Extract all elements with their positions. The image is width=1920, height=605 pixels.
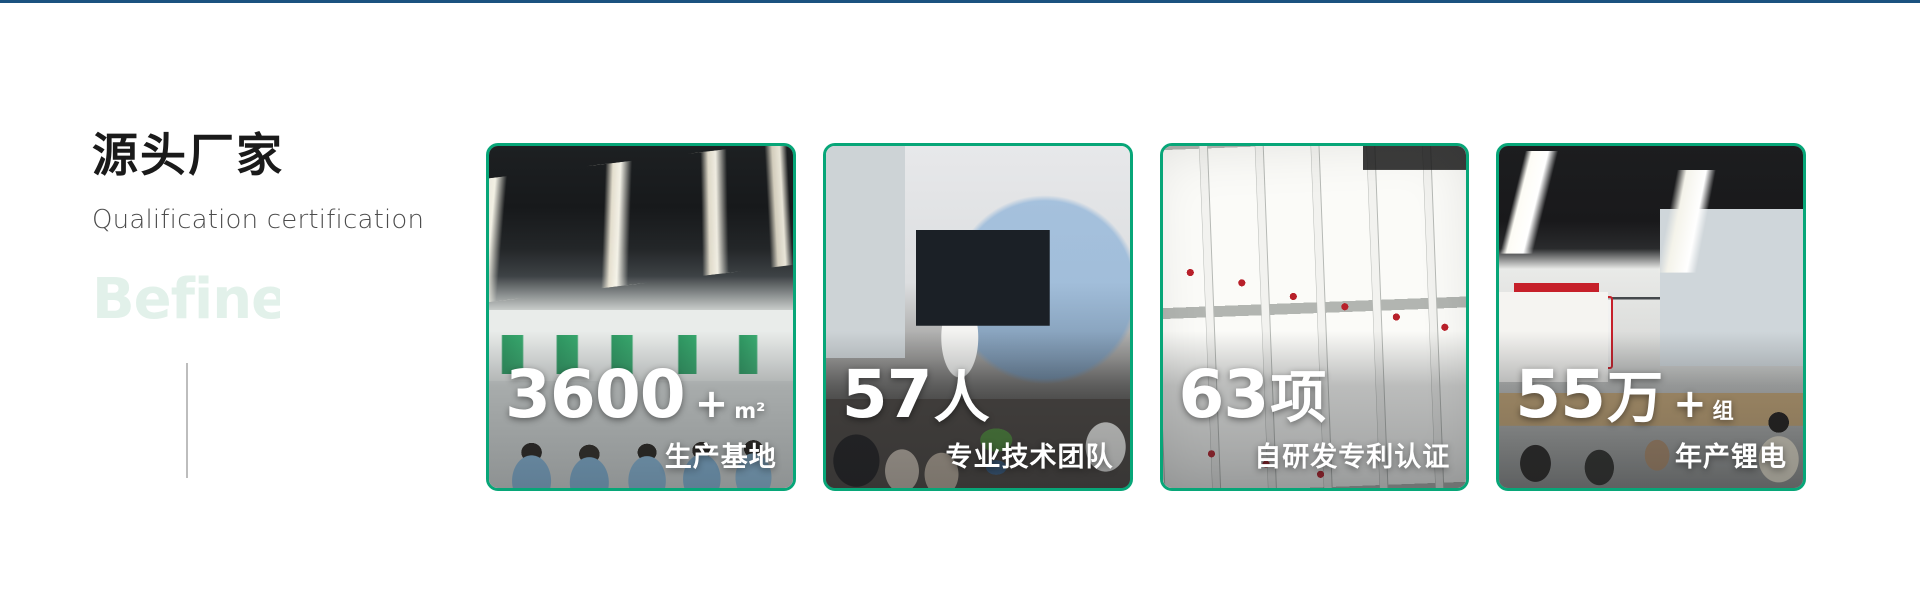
stat-suffix: 组 [1713, 401, 1734, 428]
page-title: 源头厂家 [92, 131, 492, 179]
stat-label: 专业技术团队 [842, 435, 1114, 474]
brand-watermark: Befine [92, 271, 280, 329]
intro-block: 源头厂家 Qualification certification [92, 131, 492, 235]
stat-plus-sign: + [1673, 384, 1707, 424]
stat-overlay: 57 人 专业技术团队 [826, 362, 1130, 474]
stat-unit: 人 [934, 371, 990, 427]
stat-card[interactable]: 63 项 自研发专利认证 [1160, 143, 1470, 491]
stat-overlay: 63 项 自研发专利认证 [1163, 362, 1467, 474]
stat-card-list: 3600 + m² 生产基地 57 人 专业技术团队 [486, 143, 1806, 491]
brand-watermark-text: Befine [92, 271, 280, 329]
page-subtitle: Qualification certification [92, 205, 492, 235]
stat-overlay: 3600 + m² 生产基地 [489, 362, 793, 474]
stat-label: 生产基地 [505, 435, 777, 474]
stat-label: 年产锂电 [1515, 435, 1787, 474]
stat-value: 3600 [505, 362, 685, 428]
stat-unit: 项 [1270, 371, 1326, 427]
stat-value: 63 [1179, 362, 1269, 428]
stat-overlay: 55 万 + 组 年产锂电 [1499, 362, 1803, 474]
vertical-divider [186, 363, 188, 478]
stat-card[interactable]: 57 人 专业技术团队 [823, 143, 1133, 491]
stat-plus-sign: + [695, 384, 729, 424]
stat-card[interactable]: 3600 + m² 生产基地 [486, 143, 796, 491]
qualification-section: 源头厂家 Qualification certification Befine … [0, 3, 1920, 605]
stat-card[interactable]: 55 万 + 组 年产锂电 [1496, 143, 1806, 491]
stat-label: 自研发专利认证 [1179, 435, 1451, 474]
stat-value: 57 [842, 362, 932, 428]
stat-value: 55 [1515, 362, 1605, 428]
stat-unit: 万 [1607, 371, 1663, 427]
stat-suffix: m² [734, 401, 765, 428]
